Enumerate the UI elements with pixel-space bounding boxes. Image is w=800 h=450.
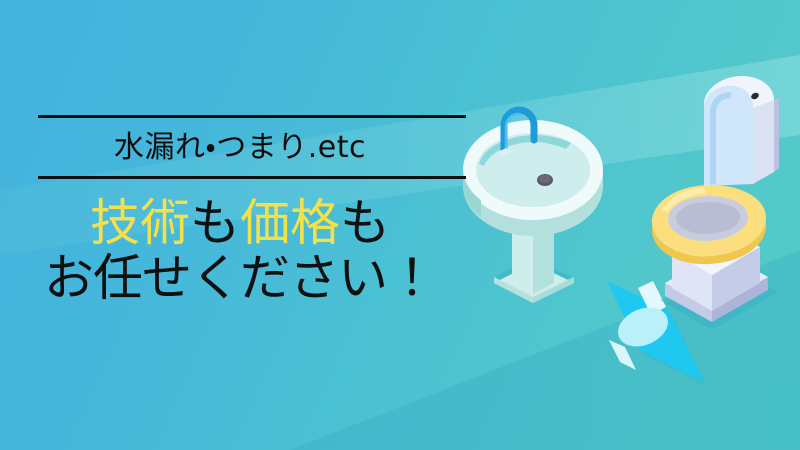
promo-banner: 水漏れ・つまり.etc 技術も価格も お任せください！ (0, 0, 800, 450)
subtitle-text: 水漏れ・つまり.etc (0, 127, 480, 169)
page-title: 技術も価格も お任せください！ (0, 196, 480, 306)
headline-word-gijutsu: 技術 (90, 194, 190, 252)
headline-word-kakaku: 価格 (240, 194, 340, 252)
toilet-icon (652, 74, 779, 330)
headline-particle-mo-1: も (190, 194, 240, 252)
headline-particle-mo-2: も (340, 194, 390, 252)
headline-line-2: お任せください！ (0, 251, 480, 306)
headline-text-block: 水漏れ・つまり.etc 技術も価格も お任せください！ (0, 0, 480, 450)
rule-below-subtitle (38, 176, 466, 179)
pedestal-sink-icon (463, 110, 603, 303)
bath-mat-icon (607, 281, 707, 386)
headline-line-1: 技術も価格も (0, 196, 480, 251)
headline-phrase-omakase: お任せください！ (44, 249, 436, 307)
rule-above-subtitle (38, 115, 466, 118)
